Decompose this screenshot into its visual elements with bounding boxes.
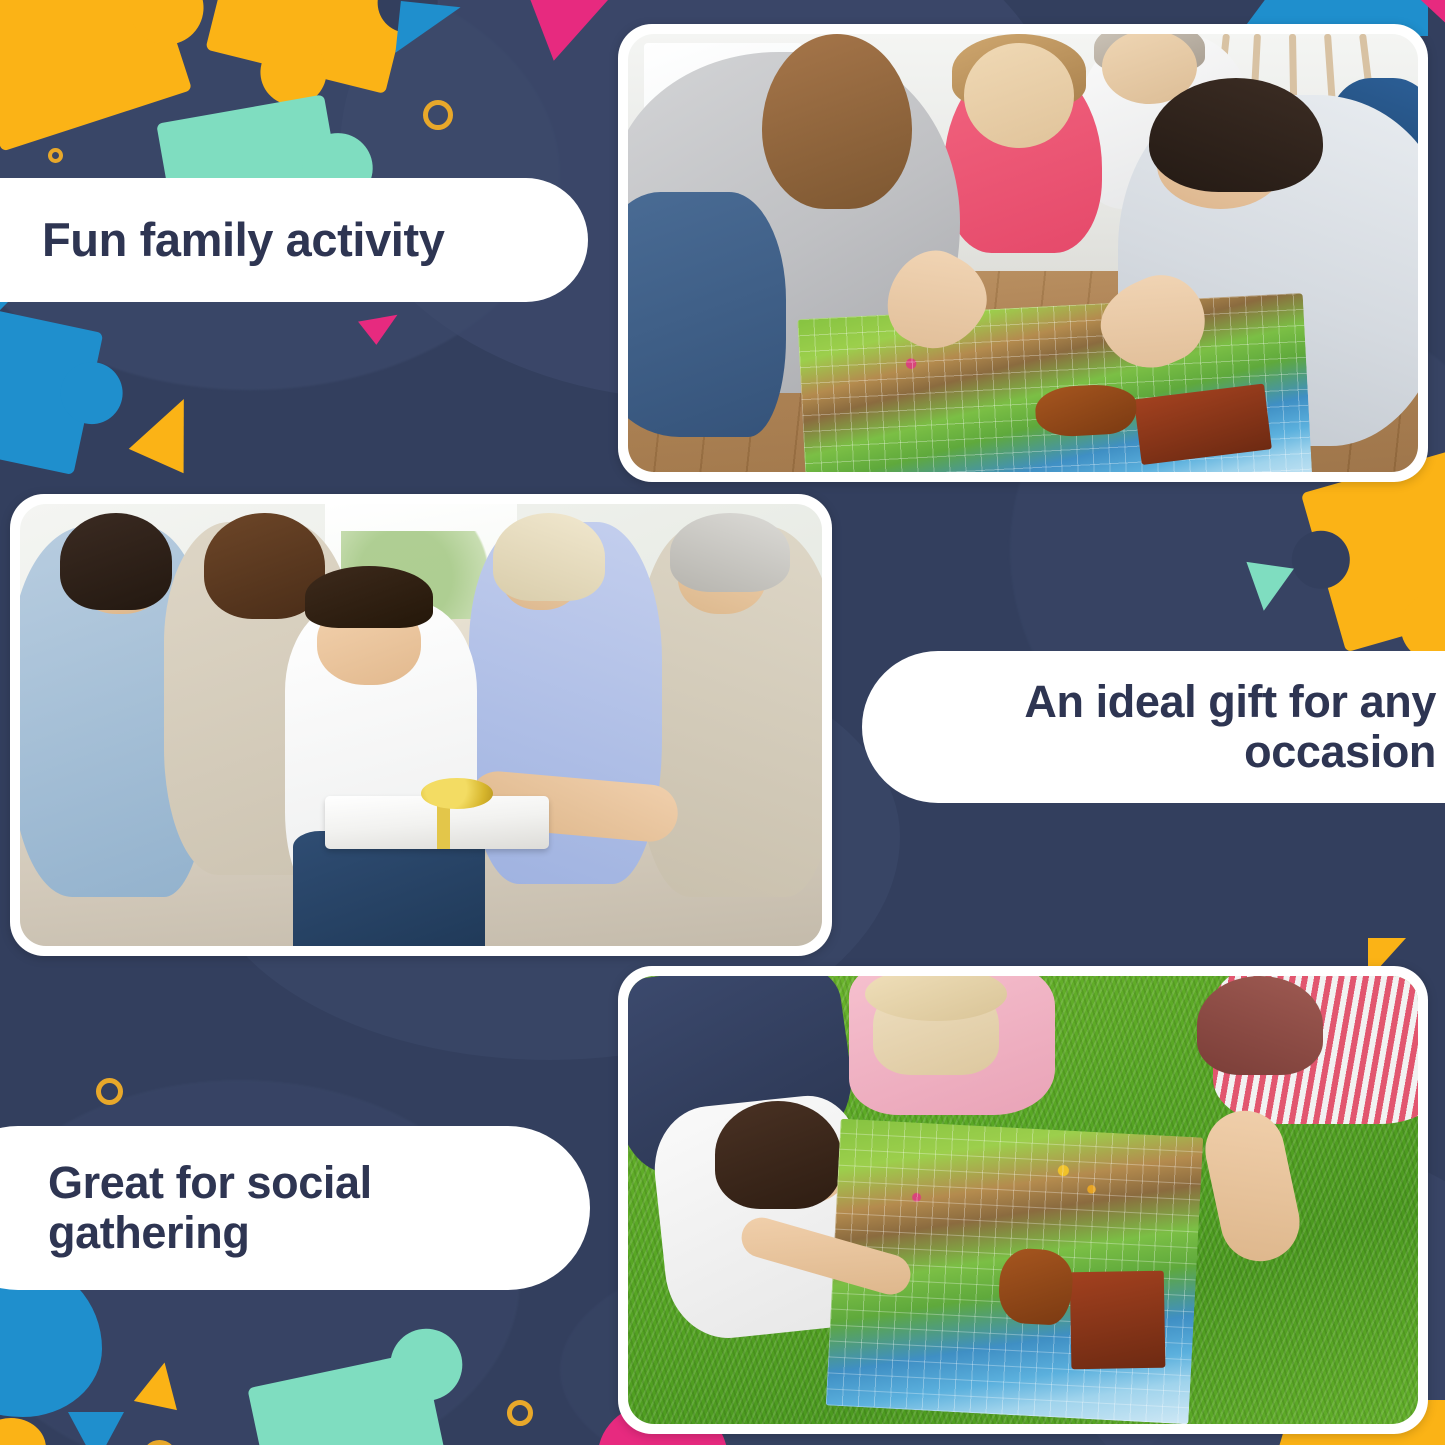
striped-shirt-hair	[1197, 976, 1323, 1075]
puzzle-piece-orange-top-left	[0, 0, 192, 152]
puzzle-piece-teal-bottom	[247, 1351, 456, 1445]
puzzle-barn	[1133, 383, 1271, 464]
label-fun-family-activity: Fun family activity	[0, 178, 588, 302]
photo-friends-grass-puzzle	[618, 966, 1428, 1434]
puzzle-knob	[384, 1322, 469, 1407]
puzzle-body	[247, 1351, 456, 1445]
grandfather-hair	[670, 513, 790, 593]
triangle-orange-left	[129, 387, 211, 474]
braided-girl-hair	[715, 1101, 841, 1209]
puzzle-notch	[371, 0, 444, 39]
photo-family-gift	[10, 494, 832, 956]
triangle-blue-top	[395, 1, 460, 59]
ring-gold-bottom-center	[507, 1400, 533, 1426]
jigsaw-puzzle-artwork	[797, 292, 1312, 472]
puzzle-knob	[253, 32, 333, 112]
puzzle-horse	[1034, 382, 1138, 437]
poster-canvas: Fun family activity An ideal gift for an…	[0, 0, 1445, 1445]
puzzle-body	[205, 0, 423, 94]
triangle-teal-right	[1240, 562, 1294, 614]
puzzle-barn	[1070, 1271, 1166, 1370]
label-ideal-gift: An ideal gift for any occasion	[862, 651, 1445, 803]
triangle-pink-mid	[358, 315, 402, 348]
puzzle-knob	[55, 356, 129, 430]
label-ideal-gift-text: An ideal gift for any occasion	[922, 677, 1436, 778]
photo-family-floor-puzzle	[618, 24, 1428, 482]
gift-bow	[421, 778, 493, 809]
puzzle-knob	[120, 0, 213, 54]
father-hair	[60, 513, 172, 610]
label-social-gathering-text: Great for social gathering	[48, 1158, 408, 1259]
puzzle-notch	[1285, 524, 1357, 596]
puzzle-piece-blue-left	[0, 300, 103, 475]
ring-gold-left	[96, 1078, 123, 1105]
grandmother-hair	[493, 513, 605, 601]
label-fun-family-activity-text: Fun family activity	[42, 214, 444, 267]
scene-family-gift	[20, 504, 822, 946]
puzzle-piece-orange-top-center	[205, 0, 423, 94]
puzzle-horse	[998, 1248, 1074, 1326]
puzzle-notch	[0, 0, 66, 1]
mother-jeans	[628, 192, 786, 437]
triangle-orange-bottom-left	[134, 1358, 186, 1410]
scene-family-floor-puzzle	[628, 34, 1418, 472]
ring-gold-top-center	[423, 100, 453, 130]
label-social-gathering: Great for social gathering	[0, 1126, 590, 1290]
puzzle-body	[0, 300, 103, 475]
photo-inner-frame	[628, 976, 1418, 1424]
ring-gold-bottom-left	[142, 1440, 177, 1445]
boy-hair	[305, 566, 433, 628]
photo-inner-frame	[628, 34, 1418, 472]
scene-friends-grass-puzzle	[628, 976, 1418, 1424]
ring-gold-small-top-left	[48, 148, 63, 163]
girl-face	[964, 43, 1075, 148]
puzzle-body	[0, 0, 192, 152]
triangle-blue-bottom-left	[68, 1412, 124, 1445]
photo-inner-frame	[20, 504, 822, 946]
blob-orange-bottom-left	[0, 1418, 46, 1445]
